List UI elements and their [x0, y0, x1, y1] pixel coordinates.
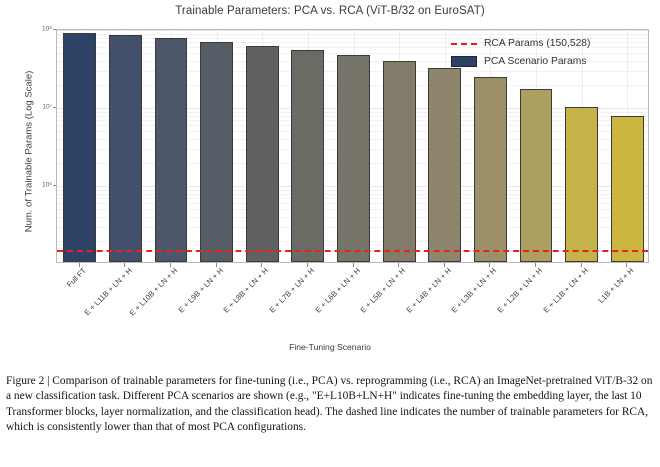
bar — [337, 55, 370, 262]
x-axis-tick-label: E + L5B + LN + H — [359, 266, 408, 315]
x-axis-tick-labels: Full FTE + L11B + LN + HE + L10B + LN + … — [0, 266, 660, 340]
x-axis-tick-label: E + L4B + LN + H — [404, 266, 453, 315]
bar — [428, 68, 461, 262]
legend-label-rca: RCA Params (150,528) — [484, 38, 590, 49]
x-axis-tick-label: L1B + LN + H — [597, 266, 636, 305]
dashed-line-icon — [451, 43, 477, 45]
bar — [474, 77, 507, 262]
chart-title: Trainable Parameters: PCA vs. RCA (ViT-B… — [0, 5, 660, 17]
bar — [63, 33, 96, 262]
bar — [383, 61, 416, 262]
x-axis-tick-label: E + L9B + LN + H — [176, 266, 225, 315]
legend-item-pca: PCA Scenario Params — [451, 54, 590, 69]
legend-item-rca: RCA Params (150,528) — [451, 36, 590, 51]
x-axis-title: Fine-Tuning Scenario — [0, 342, 660, 352]
x-axis-tick-label: Full FT — [65, 266, 88, 289]
x-axis-tick-label: E + L1B + LN + H — [541, 266, 590, 315]
bar — [109, 35, 142, 262]
legend-label-pca: PCA Scenario Params — [484, 56, 586, 67]
bar — [246, 46, 279, 262]
filled-box-icon — [451, 56, 477, 67]
caption-separator: | — [47, 375, 49, 387]
bar — [155, 38, 188, 262]
bar — [200, 42, 233, 262]
y-axis-tick-marks — [0, 29, 56, 263]
x-axis-tick-label: E + L8B + LN + H — [222, 266, 271, 315]
x-axis-tick-label: E + L3B + LN + H — [450, 266, 499, 315]
x-axis-tick-label: E + L11B + LN + H — [83, 266, 134, 317]
figure-caption: Figure 2 | Comparison of trainable param… — [6, 374, 654, 435]
caption-body: Comparison of trainable parameters for f… — [6, 375, 652, 433]
bar — [611, 116, 644, 262]
caption-figure-number: Figure 2 — [6, 375, 44, 387]
chart-legend: RCA Params (150,528) PCA Scenario Params — [451, 36, 590, 69]
figure-container: Trainable Parameters: PCA vs. RCA (ViT-B… — [0, 0, 660, 367]
x-axis-tick-label: E + L10B + LN + H — [128, 266, 180, 318]
bar — [291, 50, 324, 262]
rca-reference-line — [57, 250, 648, 252]
x-axis-tick-label: E + L6B + LN + H — [313, 266, 362, 315]
bar — [520, 89, 553, 262]
bar — [565, 107, 598, 262]
x-axis-tick-label: E + L7B + LN + H — [267, 266, 316, 315]
x-axis-tick-label: E + L2B + LN + H — [495, 266, 544, 315]
